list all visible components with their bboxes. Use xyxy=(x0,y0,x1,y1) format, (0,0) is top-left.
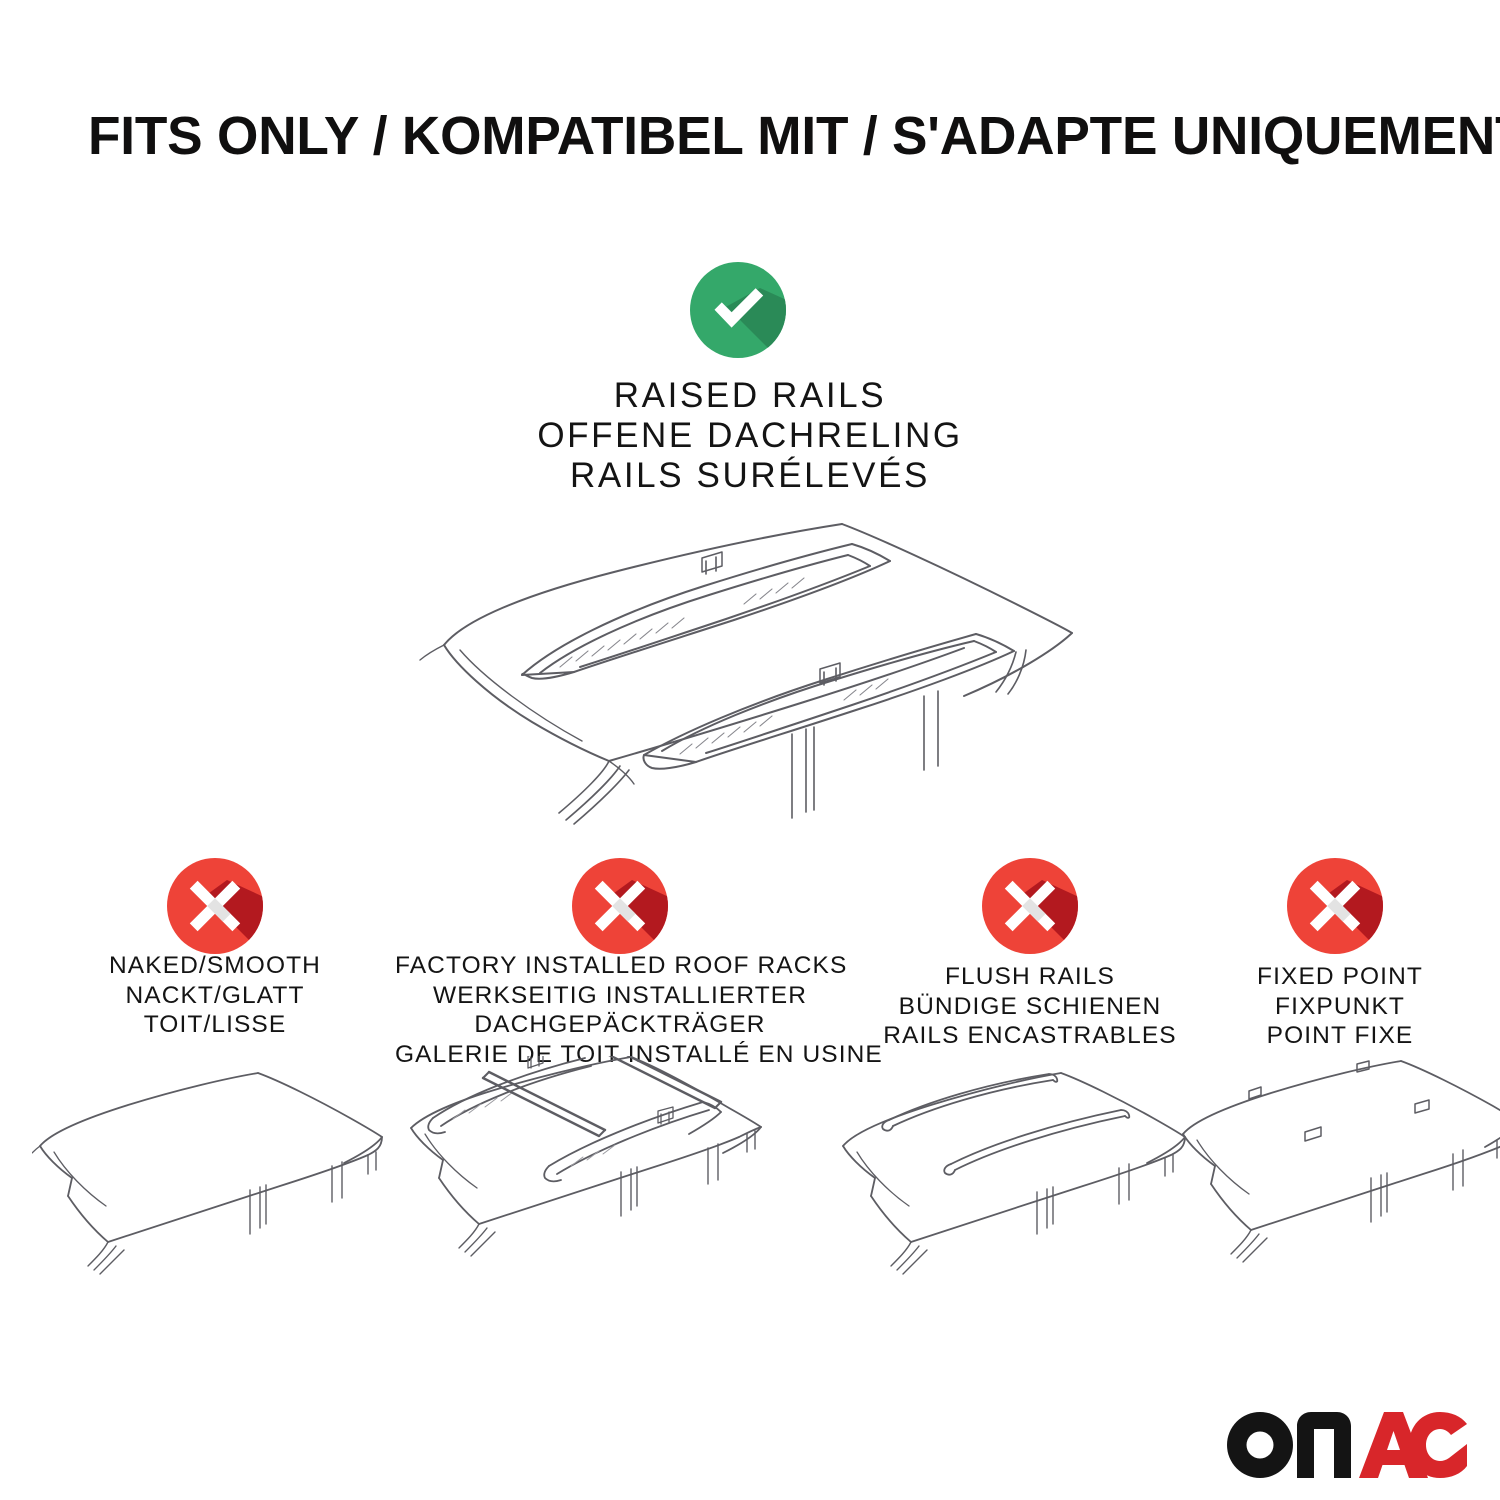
caption-line-de-2: DACHGEPÄCKTRÄGER xyxy=(395,1010,845,1040)
caption-line-de: NACKT/GLATT xyxy=(20,981,410,1011)
incompatible-item-fixed-point: FIXED POINT FIXPUNKT POINT FIXE xyxy=(1185,840,1495,1310)
caption-line-en: FLUSH RAILS xyxy=(845,962,1215,992)
x-circle-icon xyxy=(167,858,263,954)
caption-line-de-1: WERKSEITIG INSTALLIERTER xyxy=(395,981,845,1011)
incompatible-item-naked-smooth: NAKED/SMOOTH NACKT/GLATT TOIT/LISSE xyxy=(20,840,410,1310)
omac-logo xyxy=(1227,1412,1467,1478)
caption-line-en: NAKED/SMOOTH xyxy=(20,951,410,981)
incompatible-section: NAKED/SMOOTH NACKT/GLATT TOIT/LISSE xyxy=(0,840,1500,1320)
caption-line-de: FIXPUNKT xyxy=(1185,992,1495,1022)
check-circle-icon xyxy=(690,262,786,358)
car-roof-raised-rails-illustration xyxy=(404,500,1104,830)
x-circle-icon xyxy=(572,858,668,954)
caption-line-fr: RAILS ENCASTRABLES xyxy=(845,1021,1215,1051)
car-roof-fixed-point-illustration xyxy=(1175,1056,1500,1286)
car-roof-naked-illustration xyxy=(32,1056,402,1286)
incompatible-caption: FLUSH RAILS BÜNDIGE SCHIENEN RAILS ENCAS… xyxy=(845,962,1215,1051)
x-circle-icon xyxy=(1287,858,1383,954)
caption-line-en: RAISED RAILS xyxy=(350,376,1150,416)
incompatible-caption: FIXED POINT FIXPUNKT POINT FIXE xyxy=(1185,962,1495,1051)
car-roof-flush-rails-illustration xyxy=(835,1056,1210,1286)
compatible-section: RAISED RAILS OFFENE DACHRELING RAILS SUR… xyxy=(0,0,1500,840)
caption-line-en: FACTORY INSTALLED ROOF RACKS xyxy=(395,951,845,981)
caption-line-fr: TOIT/LISSE xyxy=(20,1010,410,1040)
compatible-caption: RAISED RAILS OFFENE DACHRELING RAILS SUR… xyxy=(350,376,1150,496)
caption-line-en: FIXED POINT xyxy=(1185,962,1495,992)
incompatible-item-factory-roof-racks: FACTORY INSTALLED ROOF RACKS WERKSEITIG … xyxy=(395,840,845,1310)
car-roof-factory-rack-illustration xyxy=(403,1056,778,1286)
caption-line-de: BÜNDIGE SCHIENEN xyxy=(845,992,1215,1022)
x-circle-icon xyxy=(982,858,1078,954)
caption-line-fr: POINT FIXE xyxy=(1185,1021,1495,1051)
incompatible-caption: NAKED/SMOOTH NACKT/GLATT TOIT/LISSE xyxy=(20,951,410,1040)
caption-line-fr: RAILS SURÉLEVÉS xyxy=(350,456,1150,496)
incompatible-caption: FACTORY INSTALLED ROOF RACKS WERKSEITIG … xyxy=(395,951,845,1069)
caption-line-de: OFFENE DACHRELING xyxy=(350,416,1150,456)
incompatible-item-flush-rails: FLUSH RAILS BÜNDIGE SCHIENEN RAILS ENCAS… xyxy=(845,840,1215,1310)
